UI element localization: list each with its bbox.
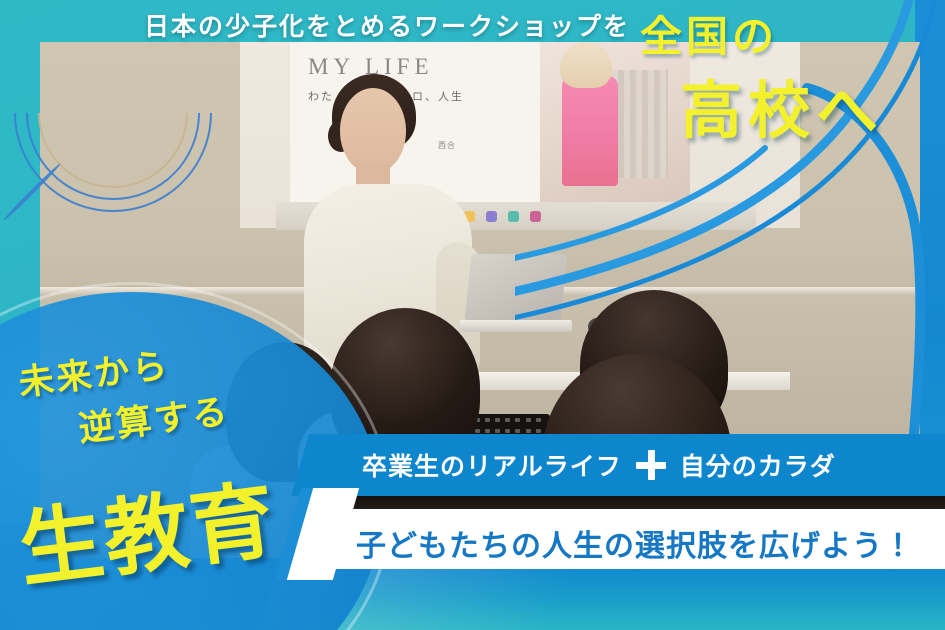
bottom-bar-text: 子どもたちの人生の選択肢を広げよう！ [356,521,914,565]
keyboard-key [515,429,520,433]
taskbar-icon-7 [508,211,519,222]
keyboard-key [515,418,520,422]
keyboard-key [505,418,510,422]
highlight-line-2: 高校へ [680,60,884,150]
keyboard-key [475,429,480,433]
mid-bar-text-right: 自分のカラダ [680,447,836,483]
slide-photo-hair [560,42,612,88]
laptop [460,254,570,346]
mid-blue-bar: 卒業生のリアルライフ 自分のカラダ [312,434,945,496]
keyboard-key [536,418,541,422]
keyboard-key [495,429,500,433]
headline-top: 日本の少子化をとめるワークショップを [0,7,630,43]
keyboard-key [505,429,510,433]
highlight-line-1: 全国の [640,3,778,64]
keyboard-key [526,429,531,433]
slide-inset-photo [540,42,690,208]
keyboard-key [526,418,531,422]
laptop-lid [465,254,568,320]
slide-photo-pattern [612,70,668,178]
mid-bar-text-left: 卒業生のリアルライフ [362,447,622,483]
keyboard-key [536,429,541,433]
decor-arcs-top-left [14,14,244,244]
taskbar-icon-8 [530,211,541,222]
keyboard-key [485,418,490,422]
slide-photo-dress [562,76,618,186]
keyboard-key [485,429,490,433]
promo-banner: MY LIFE わた ココロ、人生 西合 [0,0,945,630]
dark-divider-strip [330,496,945,509]
laptop-base [460,320,572,332]
presenter-head [340,88,406,174]
plus-icon [636,450,666,480]
mid-bar-content: 卒業生のリアルライフ 自分のカラダ [312,447,836,483]
keyboard-key [495,418,500,422]
